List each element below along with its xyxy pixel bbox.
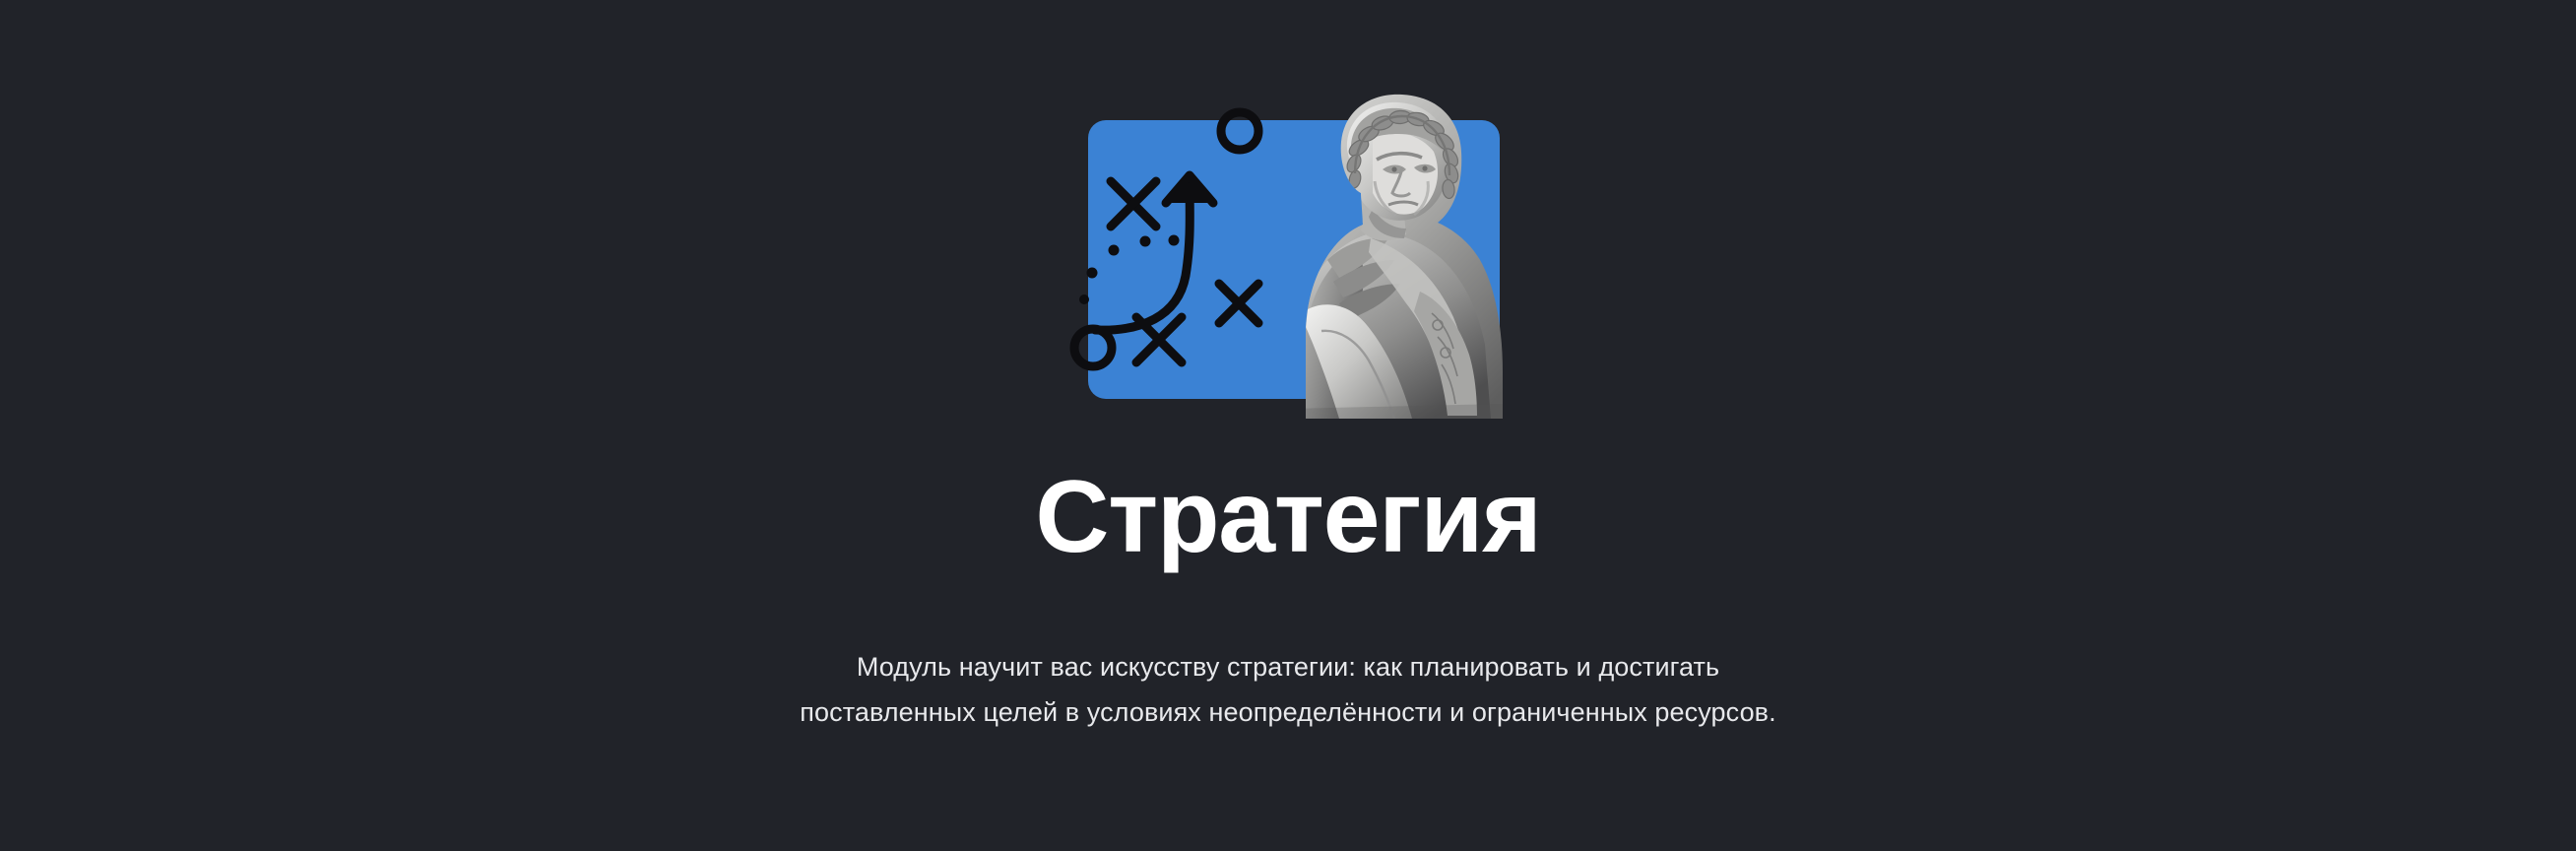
cross-mark-upper-left-icon (1111, 181, 1156, 227)
page-title: Стратегия (0, 459, 2576, 575)
caesar-statue-svg (1245, 91, 1503, 419)
page-description-line-2: поставленных целей в условиях неопределё… (677, 689, 1899, 735)
page-description-line-1: Модуль научит вас искусству стратегии: к… (677, 644, 1899, 689)
cross-mark-lower-icon (1136, 317, 1182, 362)
module-hero-page: Стратегия Модуль научит вас искусству ст… (0, 0, 2576, 851)
circle-mark-bottom-left-icon (1074, 329, 1112, 366)
caesar-statue-image (1245, 91, 1503, 419)
hero-illustration (1079, 91, 1513, 425)
dotted-path-icon (1079, 235, 1180, 305)
page-description: Модуль научит вас искусству стратегии: к… (677, 644, 1899, 735)
